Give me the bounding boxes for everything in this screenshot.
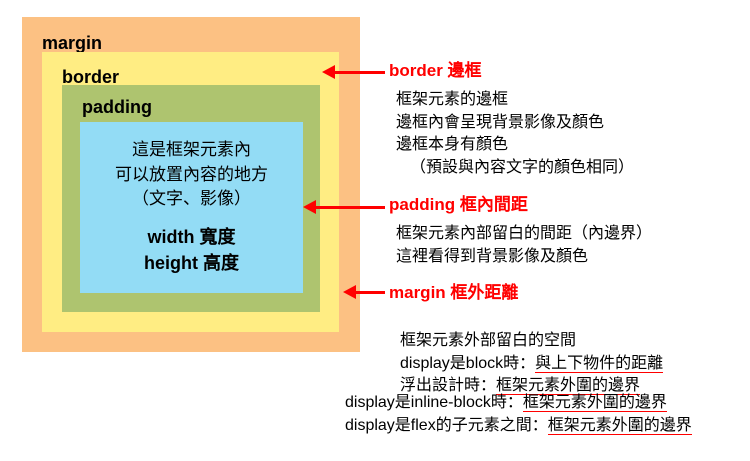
padding-annotation-line-1: 框架元素內部留白的間距（內邊界） [396,223,652,246]
margin-annotation-body: 框架元素外部留白的空間 display是block時：與上下物件的距離 浮出設計… [386,330,663,398]
padding-arrow-icon [303,200,385,214]
margin-box-label: margin [42,34,102,52]
padding-box-label: padding [82,98,152,116]
padding-annotation-heading: padding 框內間距 [389,196,652,213]
arrow-shaft [333,71,385,74]
margin-annotation-line-2: display是block時：與上下物件的距離 [386,353,663,376]
box-model-diagram: margin border padding 這是框架元素內 可以放置內容的地方 … [22,17,360,352]
border-annotation: border 邊框 框架元素的邊框 邊框內會呈現背景影像及顏色 邊框本身有顏色 … [389,62,634,180]
margin-line-5-prefix: display是flex的子元素之間： [345,417,548,434]
margin-line-4-prefix: display是inline-block時： [345,394,523,411]
border-box: border padding 這是框架元素內 可以放置內容的地方 （文字、影像）… [42,52,339,332]
content-line-2: 可以放置內容的地方 [80,163,303,188]
margin-annotation-line-5: display是flex的子元素之間：框架元素外圍的邊界 [345,415,692,438]
arrow-shaft [354,291,385,294]
margin-annotation-line-4: display是inline-block時：框架元素外圍的邊界 [345,392,692,415]
content-box-text: 這是框架元素內 可以放置內容的地方 （文字、影像） width 寬度 heigh… [80,138,303,276]
padding-annotation: padding 框內間距 框架元素內部留白的間距（內邊界） 這裡看得到背景影像及… [389,196,652,268]
margin-line-4-underlined: 框架元素外圍的邊界 [523,394,667,412]
border-annotation-line-3: 邊框本身有顏色 [396,134,634,157]
padding-box: padding 這是框架元素內 可以放置內容的地方 （文字、影像） width … [62,85,320,312]
margin-annotation-body-extra: display是inline-block時：框架元素外圍的邊界 display是… [345,392,692,437]
padding-annotation-line-2: 這裡看得到背景影像及顏色 [396,246,652,269]
margin-arrow-icon [343,285,385,299]
margin-line-5-underlined: 框架元素外圍的邊界 [548,417,692,435]
margin-annotation-heading: margin 框外距離 [389,284,518,301]
border-annotation-heading: border 邊框 [389,62,634,79]
margin-box: margin border padding 這是框架元素內 可以放置內容的地方 … [22,17,360,352]
content-width-label: width 寬度 [80,224,303,250]
margin-annotation-line-1: 框架元素外部留白的空間 [386,330,663,353]
content-line-1: 這是框架元素內 [132,140,251,159]
margin-annotation: margin 框外距離 [389,284,518,301]
border-annotation-line-1: 框架元素的邊框 [396,89,634,112]
border-arrow-icon [322,65,385,79]
padding-annotation-body: 框架元素內部留白的間距（內邊界） 這裡看得到背景影像及顏色 [389,223,652,268]
border-annotation-body: 框架元素的邊框 邊框內會呈現背景影像及顏色 邊框本身有顏色 （預設與內容文字的顏… [389,89,634,180]
margin-line-2-prefix: display是block時： [400,355,535,372]
border-annotation-line-2: 邊框內會呈現背景影像及顏色 [396,112,634,135]
margin-line-2-underlined: 與上下物件的距離 [535,355,663,373]
border-annotation-line-4: （預設與內容文字的顏色相同） [396,157,634,180]
arrow-shaft [314,206,385,209]
border-box-label: border [62,68,119,86]
content-box: 這是框架元素內 可以放置內容的地方 （文字、影像） width 寬度 heigh… [80,122,303,293]
content-height-label: height 高度 [80,250,303,276]
content-line-3: （文字、影像） [80,187,303,212]
content-dimensions: width 寬度 height 高度 [80,224,303,276]
